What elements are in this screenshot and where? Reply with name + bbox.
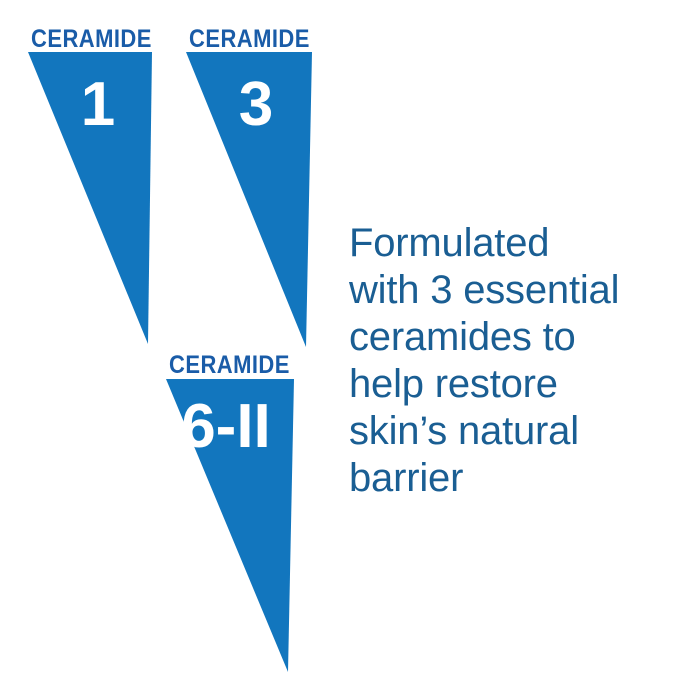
ceramide-number-1: 1	[62, 74, 134, 136]
body-copy-block: Formulated with 3 essential ceramides to…	[349, 220, 649, 502]
body-copy-line-5: skin’s natural	[349, 408, 649, 455]
body-copy-line-1: Formulated	[349, 220, 649, 267]
body-copy-line-3: ceramides to	[349, 314, 649, 361]
infographic-canvas: CERAMIDE 1 CERAMIDE 3 CERAMIDE 6-II Form…	[0, 0, 679, 679]
body-copy-line-6: barrier	[349, 455, 649, 502]
ceramide-label-3: CERAMIDE	[169, 353, 290, 378]
ceramide-flag-2: CERAMIDE 3	[160, 0, 330, 350]
ceramide-number-2: 3	[218, 74, 294, 136]
ceramide-number-3: 6-II	[164, 396, 288, 458]
ceramide-flag-3: CERAMIDE 6-II	[140, 328, 320, 679]
ceramide-label-2: CERAMIDE	[189, 27, 310, 52]
body-copy-line-2: with 3 essential	[349, 267, 649, 314]
ceramide-flag-1: CERAMIDE 1	[0, 0, 160, 350]
body-copy-line-4: help restore	[349, 361, 649, 408]
ceramide-label-1: CERAMIDE	[31, 27, 152, 52]
